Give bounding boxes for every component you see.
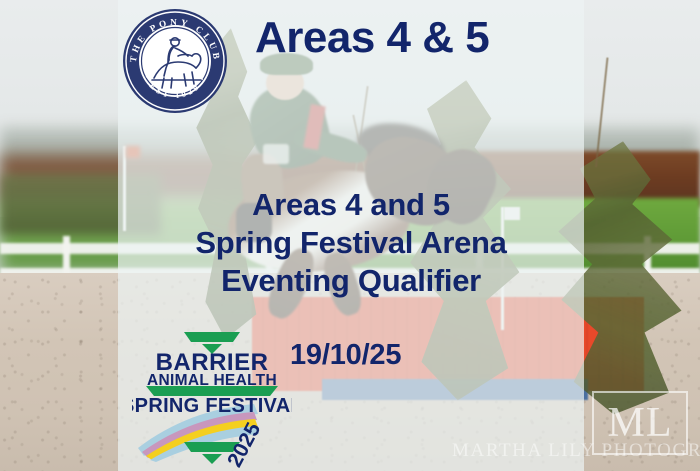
barrier-line2: ANIMAL HEALTH [147,372,277,389]
headline-line-1: Areas 4 and 5 [124,186,578,224]
headline-line-3: Eventing Qualifier [124,262,578,300]
event-headline: Areas 4 and 5 Spring Festival Arena Even… [124,186,578,299]
event-date: 19/10/25 [290,339,401,372]
headline-line-2: Spring Festival Arena [124,224,578,262]
barrier-line3: SPRING FESTIVAL [132,395,292,417]
event-poster: MARTHA LILY PHOTOGRAPHY ML [0,0,700,471]
barrier-spring-festival-logo: BARRIER ANIMAL HEALTH SPRING FESTIVAL 20… [132,330,292,468]
ml-monogram-watermark: ML [592,391,688,455]
pony-club-logo: THE PONY CLUB · EST 1929 · [120,6,230,116]
ml-monogram-letters: ML [608,402,673,444]
page-title: Areas 4 & 5 [255,16,595,60]
